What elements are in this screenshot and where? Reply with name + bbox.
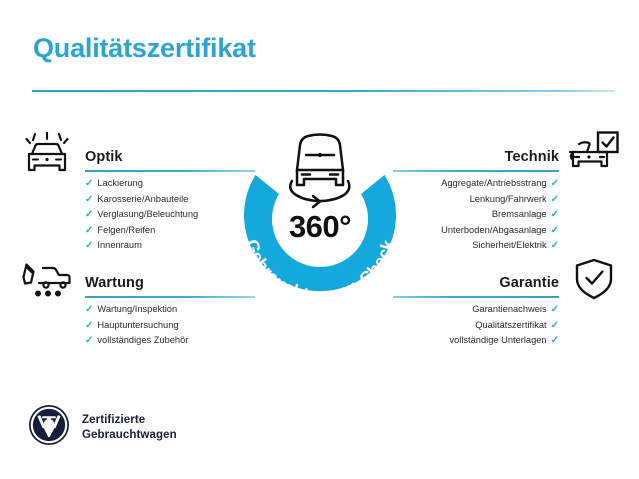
check-icon: ✓ bbox=[551, 333, 559, 349]
list-item-label: Lackierung bbox=[97, 176, 142, 192]
car-front-headlights-icon bbox=[22, 132, 72, 182]
footer-logo-block: Zertifizierte Gebrauchtwagen bbox=[28, 404, 177, 451]
pencil-service-book-icon bbox=[20, 261, 75, 306]
check-icon: ✓ bbox=[551, 192, 559, 208]
list-item-label: vollständiges Zubehör bbox=[97, 333, 188, 349]
list-item: Qualitätszertifikat✓ bbox=[393, 318, 559, 334]
list-item-label: Innenraum bbox=[97, 238, 141, 254]
list-item-label: Verglasung/Beleuchtung bbox=[97, 207, 198, 223]
check-icon: ✓ bbox=[85, 192, 93, 208]
list-item-label: Karosserie/Anbauteile bbox=[97, 192, 188, 208]
list-item-label: Felgen/Reifen bbox=[97, 223, 155, 239]
page-title: Qualitätszertifikat bbox=[33, 33, 256, 64]
section-title: Technik bbox=[505, 149, 559, 165]
list-item: ✓vollständiges Zubehör bbox=[85, 333, 255, 349]
list-item-label: vollständige Unterlagen bbox=[449, 333, 546, 349]
check-icon: ✓ bbox=[85, 333, 93, 349]
check-icon: ✓ bbox=[551, 238, 559, 254]
certificate-page: Qualitätszertifikat bbox=[0, 0, 639, 479]
check-icon: ✓ bbox=[551, 176, 559, 192]
list-item-label: Unterboden/Abgasanlage bbox=[441, 223, 546, 239]
section-title: Garantie bbox=[499, 275, 559, 291]
header-divider bbox=[32, 90, 615, 92]
list-item-label: Sicherheit/Elektrik bbox=[472, 238, 546, 254]
list-item-label: Garantienachweis bbox=[472, 302, 546, 318]
shield-check-icon bbox=[572, 257, 616, 307]
gebrauchtwagen-check-badge: Gebrauchtwagen-Check 360° bbox=[222, 117, 418, 317]
car-checkbox-icon bbox=[567, 130, 620, 180]
footer-line-1: Zertifizierte bbox=[82, 413, 177, 428]
check-icon: ✓ bbox=[85, 176, 93, 192]
list-item: ✓Hauptuntersuchung bbox=[85, 318, 255, 334]
check-icon: ✓ bbox=[85, 318, 93, 334]
list-item: vollständige Unterlagen✓ bbox=[393, 333, 559, 349]
list-item-label: Bremsanlage bbox=[492, 207, 547, 223]
footer-line-2: Gebrauchtwagen bbox=[82, 428, 177, 443]
check-icon: ✓ bbox=[551, 207, 559, 223]
check-icon: ✓ bbox=[85, 223, 93, 239]
section-title: Wartung bbox=[85, 275, 144, 291]
check-icon: ✓ bbox=[551, 318, 559, 334]
check-icon: ✓ bbox=[85, 238, 93, 254]
footer-text: Zertifizierte Gebrauchtwagen bbox=[82, 413, 177, 443]
list-item-label: Lenkung/Fahrwerk bbox=[470, 192, 547, 208]
list-item-label: Wartung/Inspektion bbox=[97, 302, 177, 318]
list-item-label: Hauptuntersuchung bbox=[97, 318, 178, 334]
check-icon: ✓ bbox=[85, 207, 93, 223]
list-item-label: Qualitätszertifikat bbox=[475, 318, 546, 334]
check-icon: ✓ bbox=[551, 302, 559, 318]
check-icon: ✓ bbox=[551, 223, 559, 239]
list-item-label: Aggregate/Antriebsstrang bbox=[441, 176, 546, 192]
vw-logo-icon bbox=[28, 404, 70, 451]
section-title: Optik bbox=[85, 149, 123, 165]
check-icon: ✓ bbox=[85, 302, 93, 318]
